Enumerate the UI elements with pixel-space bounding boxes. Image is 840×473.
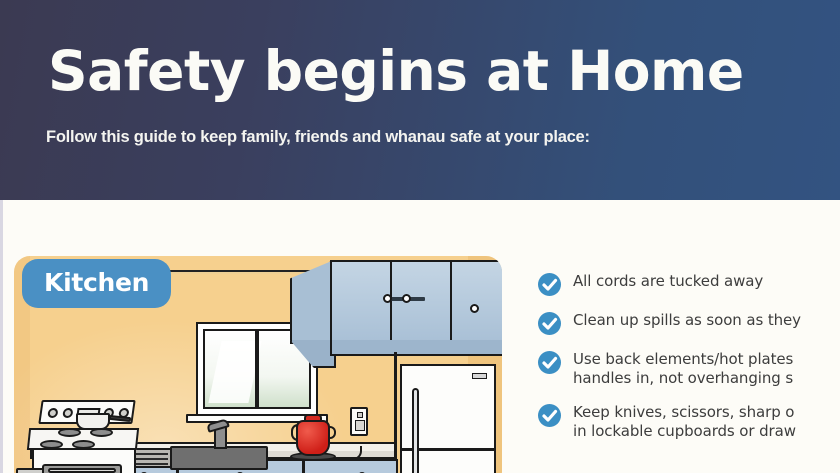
stove-knob-1 [47, 408, 58, 418]
header-banner: Safety begins at Home Follow this guide … [0, 0, 840, 200]
check-circle-icon [538, 312, 561, 335]
fridge-icon [400, 364, 496, 473]
check-circle-icon [538, 273, 561, 296]
checklist-item[interactable]: All cords are tucked away [538, 272, 801, 296]
room-badge-kitchen: Kitchen [22, 259, 171, 308]
checklist-item-label: Clean up spills as soon as they [573, 311, 801, 330]
cooktop-element-1 [40, 440, 63, 449]
fridge-handle [412, 388, 419, 473]
checklist-item[interactable]: Clean up spills as soon as they [538, 311, 801, 335]
safety-checklist: All cords are tucked away Clean up spill… [538, 272, 801, 456]
room-badge-label: Kitchen [44, 268, 149, 297]
checklist-item-label: Keep knives, scissors, sharp o in lockab… [573, 403, 796, 441]
outlet-switch [357, 412, 363, 418]
kettle-cord [332, 446, 362, 460]
lower-cabinet-divider-2 [302, 461, 305, 473]
check-circle-icon [538, 404, 561, 427]
kettle-icon [296, 420, 330, 456]
page-subtitle: Follow this guide to keep family, friend… [46, 128, 590, 147]
lock-knob-right [402, 294, 411, 303]
window-gleam [208, 341, 261, 403]
checklist-item-label: Use back elements/hot plates handles in,… [573, 350, 793, 388]
cooktop-element-2 [72, 440, 95, 449]
sink-basin [170, 446, 268, 470]
floor-container [16, 468, 44, 473]
checklist-item[interactable]: Use back elements/hot plates handles in,… [538, 350, 801, 388]
fridge-badge [472, 373, 487, 379]
pot-icon [76, 413, 110, 430]
lock-knob-left [383, 294, 392, 303]
upper-cabinet-underside [330, 340, 502, 356]
page-title: Safety begins at Home [48, 44, 744, 99]
checklist-item-label: All cords are tucked away [573, 272, 763, 291]
cabinet-safety-lock-icon [383, 294, 425, 303]
check-circle-icon [538, 351, 561, 374]
left-edge-rule [0, 200, 3, 473]
cabinet-knob [470, 304, 479, 313]
kettle-lid [304, 414, 322, 422]
checklist-item[interactable]: Keep knives, scissors, sharp o in lockab… [538, 403, 801, 441]
cabinet-door-3 [452, 262, 502, 342]
cooktop-element-3 [58, 428, 81, 437]
power-outlet-icon [350, 407, 368, 436]
stove-knob-2 [62, 408, 73, 418]
window-mullion [255, 329, 259, 409]
outlet-socket [355, 420, 365, 431]
oven-handle [48, 468, 116, 473]
